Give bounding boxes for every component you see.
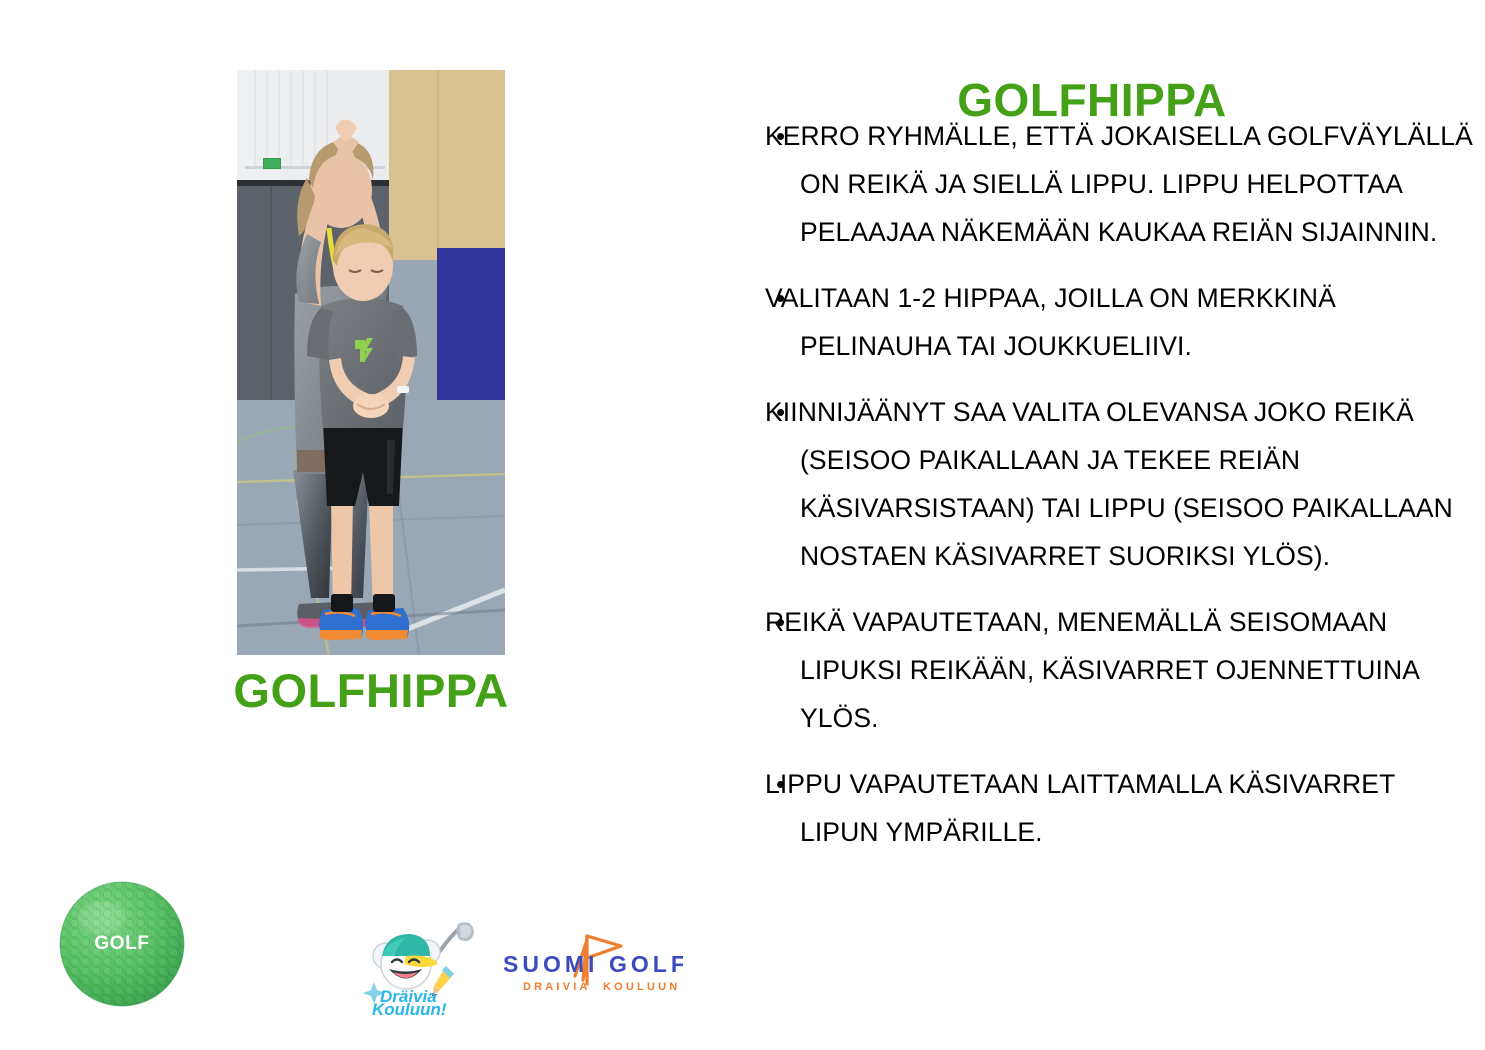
right-column: GOLFHIPPA • KERRO RYHMÄLLE, ETTÄ JOKAISE… [742, 0, 1485, 1050]
golf-ball-mascot-with-club-icon: Dräivia Kouluun! [362, 912, 480, 1016]
golf-word: GOLF [609, 951, 683, 977]
list-item-text: LIPPU VAPAUTETAAN LAITTAMALLA KÄSIVARRET… [800, 760, 1476, 856]
suomi-golf-logo-icon: SUOMI GOLF DRAIVIA KOULUUN [497, 928, 683, 1000]
list-item: • KERRO RYHMÄLLE, ETTÄ JOKAISELLA GOLFVÄ… [776, 112, 1476, 256]
draivia-wordmark-line2: Kouluun! [372, 1000, 447, 1016]
list-item: • REIKÄ VAPAUTETAAN, MENEMÄLLÄ SEISOMAAN… [776, 598, 1476, 742]
list-item-text: KIINNIJÄÄNYT SAA VALITA OLEVANSA JOKO RE… [800, 388, 1476, 580]
slide-golfhippa: { "slide": { "title": "GOLFHIPPA", "phot… [0, 0, 1485, 1050]
golf-ball-icon [58, 880, 186, 1008]
list-item-text: VALITAAN 1-2 HIPPAA, JOILLA ON MERKKINÄ … [800, 274, 1476, 370]
list-item: • LIPPU VAPAUTETAAN LAITTAMALLA KÄSIVARR… [776, 760, 1476, 856]
suomi-golf-tagline: DRAIVIA [523, 981, 591, 993]
instructions-list: • KERRO RYHMÄLLE, ETTÄ JOKAISELLA GOLFVÄ… [776, 112, 1476, 874]
suomi-word: SUOMI [503, 951, 598, 977]
left-column: GOLFHIPPA GOLF [0, 0, 742, 1050]
list-item-text: REIKÄ VAPAUTETAAN, MENEMÄLLÄ SEISOMAAN L… [800, 598, 1476, 742]
suomi-golf-tagline-2: KOULUUN [603, 981, 680, 993]
suomi-golf-logo: SUOMI GOLF DRAIVIA KOULUUN [497, 928, 683, 1000]
photo-caption: GOLFHIPPA [0, 666, 742, 715]
activity-photo [237, 70, 505, 655]
list-item: • VALITAAN 1-2 HIPPAA, JOILLA ON MERKKIN… [776, 274, 1476, 370]
list-item: • KIINNIJÄÄNYT SAA VALITA OLEVANSA JOKO … [776, 388, 1476, 580]
photo-illustration [237, 70, 505, 655]
golf-ball-badge: GOLF [58, 880, 186, 1008]
draivia-kouluun-logo: Dräivia Kouluun! [362, 912, 480, 1016]
list-item-text: KERRO RYHMÄLLE, ETTÄ JOKAISELLA GOLFVÄYL… [800, 112, 1476, 256]
